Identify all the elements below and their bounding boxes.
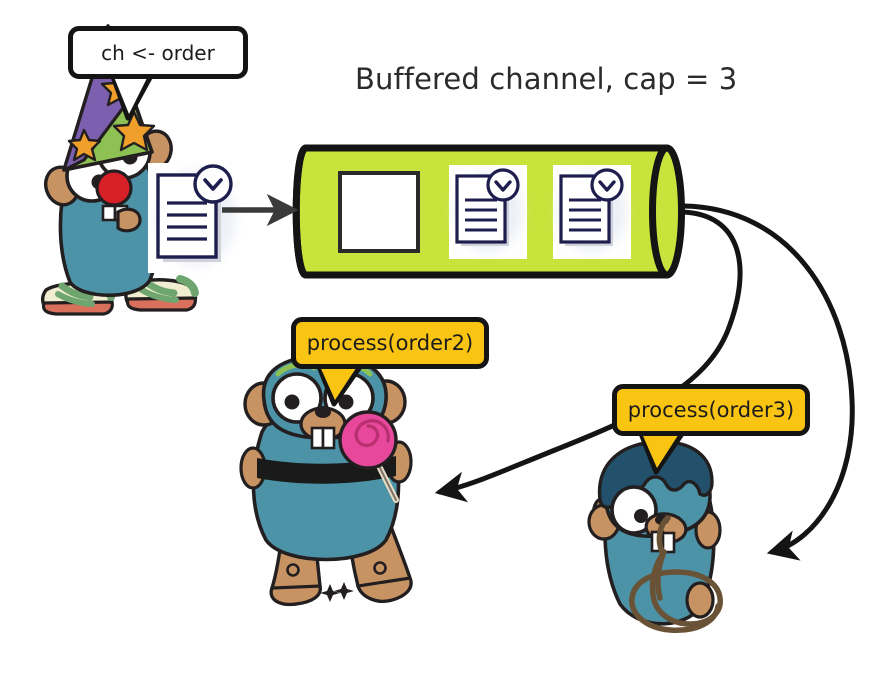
speech-bubble-send: ch <- order [68,26,248,79]
diagram-canvas: Buffered channel, cap = 3 [0,0,890,688]
speech-bubble-process-order3: process(order3) [612,384,810,436]
speech-bubble-process-order3-text: process(order3) [628,400,794,421]
speech-bubble-process-order2: process(order2) [291,317,489,369]
speech-bubble-send-text: ch <- order [101,43,215,63]
speech-bubble-process-order2-text: process(order2) [307,333,473,354]
